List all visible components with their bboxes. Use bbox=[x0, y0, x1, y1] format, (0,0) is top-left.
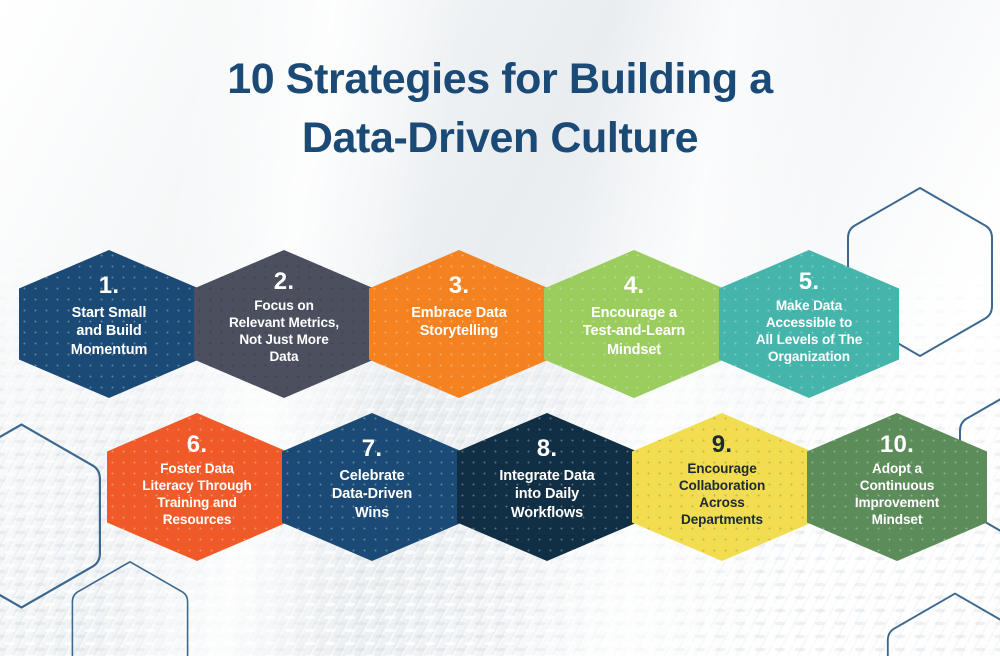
strategy-hex-7[interactable]: 7. Celebrate Data-Driven Wins bbox=[282, 413, 462, 561]
strategy-label-4: Encourage a Test-and-Learn Mindset bbox=[583, 304, 685, 359]
strategy-number-1: 1. bbox=[99, 274, 120, 298]
strategy-number-9: 9. bbox=[712, 433, 733, 457]
strategy-number-6: 6. bbox=[187, 433, 208, 457]
strategy-hex-9[interactable]: 9. Encourage Collaboration Across Depart… bbox=[632, 413, 812, 561]
strategy-number-8: 8. bbox=[537, 437, 558, 461]
strategy-number-5: 5. bbox=[799, 270, 820, 294]
strategy-hex-4[interactable]: 4. Encourage a Test-and-Learn Mindset bbox=[544, 250, 724, 398]
decorative-hexagon-outline-bottom-left bbox=[66, 557, 194, 656]
strategy-label-5: Make Data Accessible to All Levels of Th… bbox=[756, 298, 862, 366]
strategy-number-10: 10. bbox=[880, 433, 914, 457]
strategy-label-10: Adopt a Continuous Improvement Mindset bbox=[855, 461, 939, 529]
strategy-number-4: 4. bbox=[624, 274, 645, 298]
strategy-label-6: Foster Data Literacy Through Training an… bbox=[142, 461, 251, 529]
strategy-hex-2[interactable]: 2. Focus on Relevant Metrics, Not Just M… bbox=[194, 250, 374, 398]
strategy-hex-3[interactable]: 3. Embrace Data Storytelling bbox=[369, 250, 549, 398]
infographic-canvas: 10 Strategies for Building a Data-Driven… bbox=[0, 0, 1000, 656]
strategy-label-2: Focus on Relevant Metrics, Not Just More… bbox=[229, 298, 339, 366]
strategy-label-1: Start Small and Build Momentum bbox=[71, 304, 148, 359]
strategy-hex-8[interactable]: 8. Integrate Data into Daily Workflows bbox=[457, 413, 637, 561]
strategy-label-7: Celebrate Data-Driven Wins bbox=[332, 467, 412, 522]
strategy-label-3: Embrace Data Storytelling bbox=[411, 304, 507, 341]
decorative-hexagon-outline-bottom-right bbox=[880, 588, 1000, 656]
strategy-label-9: Encourage Collaboration Across Departmen… bbox=[679, 461, 765, 529]
strategy-number-7: 7. bbox=[362, 437, 383, 461]
strategy-label-8: Integrate Data into Daily Workflows bbox=[499, 467, 594, 522]
page-title: 10 Strategies for Building a Data-Driven… bbox=[0, 50, 1000, 169]
strategy-number-2: 2. bbox=[274, 270, 295, 294]
strategy-hex-1[interactable]: 1. Start Small and Build Momentum bbox=[19, 250, 199, 398]
strategy-hex-6[interactable]: 6. Foster Data Literacy Through Training… bbox=[107, 413, 287, 561]
strategy-number-3: 3. bbox=[449, 274, 470, 298]
